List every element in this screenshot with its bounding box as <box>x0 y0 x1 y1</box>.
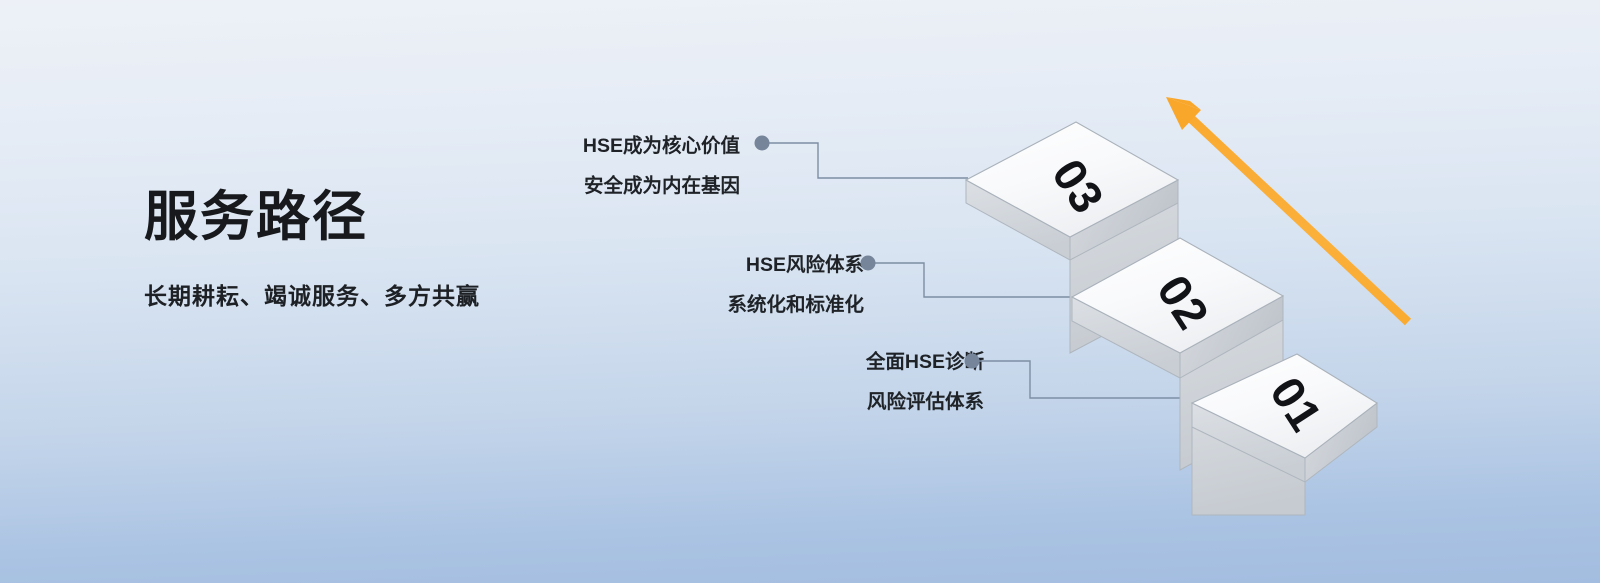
connector-dot-03 <box>755 136 770 151</box>
connector-line-03 <box>766 143 968 178</box>
connector-line-02 <box>872 263 1078 297</box>
staircase-diagram: 03 02 01 <box>0 0 1600 583</box>
connector-dot-02 <box>861 256 876 271</box>
connector-dot-01 <box>965 354 980 369</box>
connector-dots <box>755 136 980 369</box>
slide-canvas: 服务路径 长期耕耘、竭诚服务、多方共赢 HSE成为核心价值 安全成为内在基因 H… <box>0 0 1600 583</box>
